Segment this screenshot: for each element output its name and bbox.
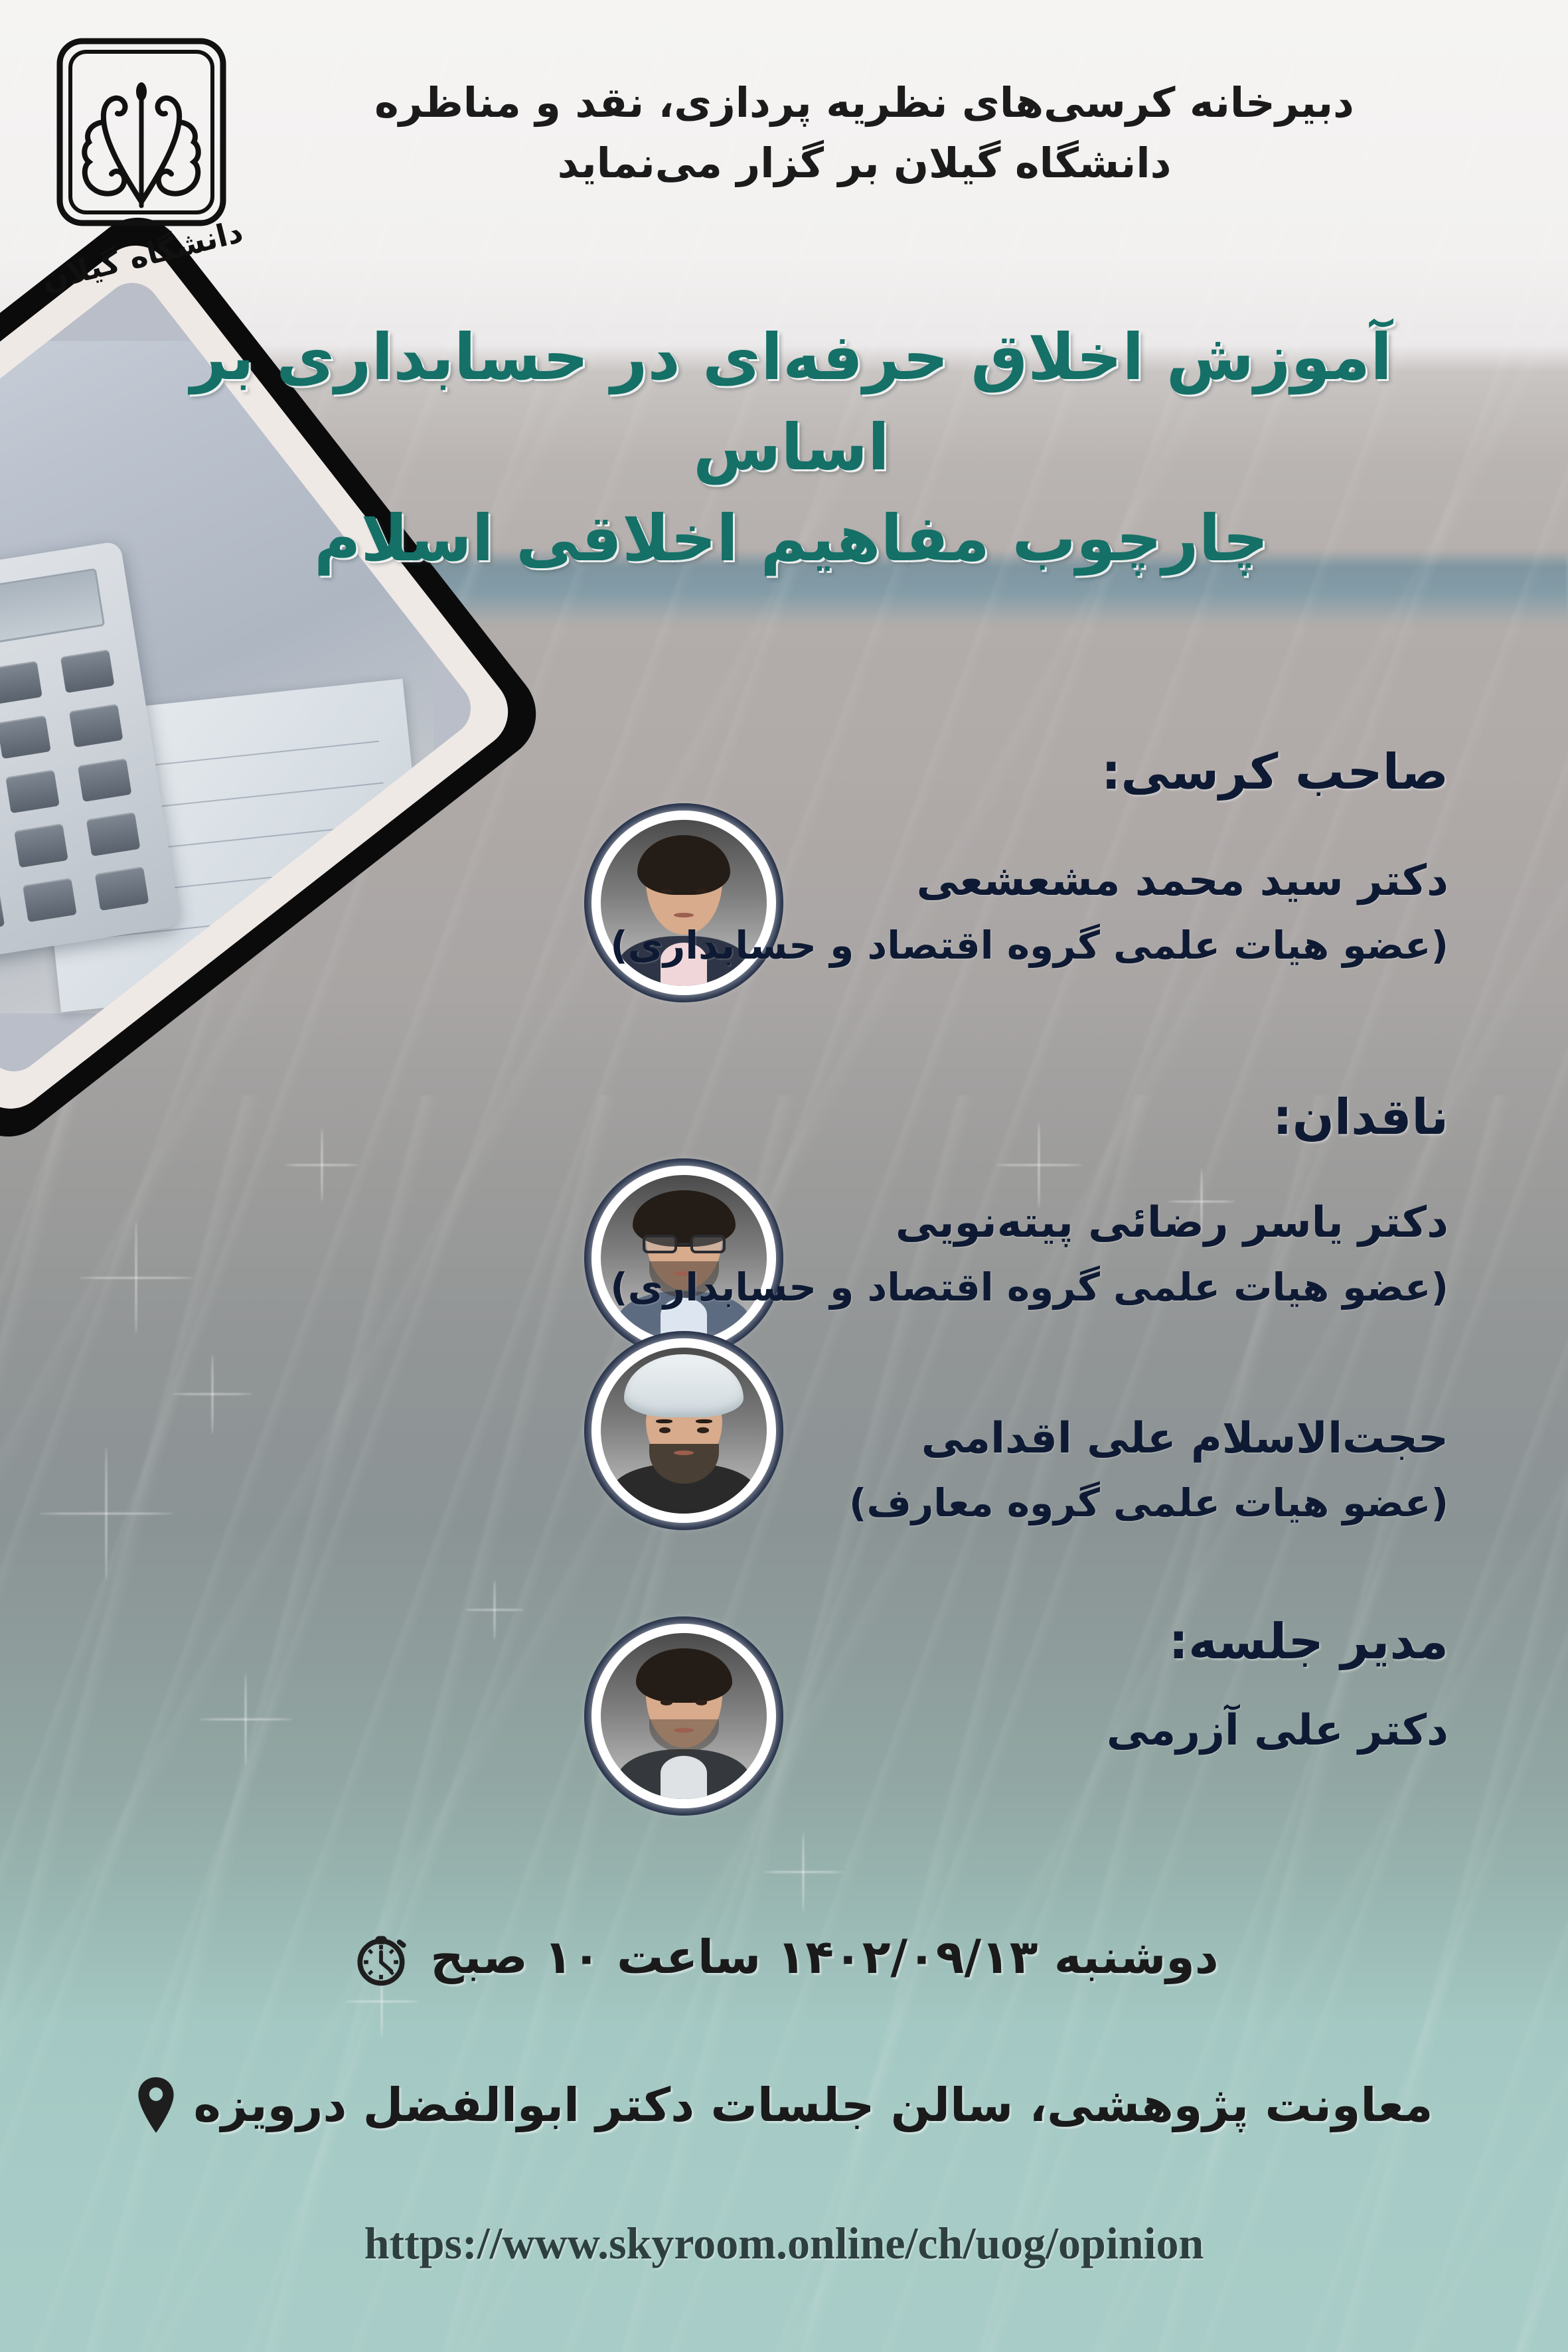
datetime-row: دوشنبه ۱۴۰۲/۰۹/۱۳ ساعت ۱۰ صبح — [0, 1925, 1568, 1989]
map-pin-icon — [135, 2075, 177, 2136]
poster-footer: دوشنبه ۱۴۰۲/۰۹/۱۳ ساعت ۱۰ صبح معاونت پژو… — [0, 0, 1568, 2352]
event-location: معاونت پژوهشی، سالن جلسات دکتر ابوالفضل … — [194, 2078, 1433, 2132]
location-row: معاونت پژوهشی، سالن جلسات دکتر ابوالفضل … — [0, 2075, 1568, 2136]
meeting-url[interactable]: https://www.skyroom.online/ch/uog/opinio… — [364, 2218, 1204, 2268]
event-datetime: دوشنبه ۱۴۰۲/۰۹/۱۳ ساعت ۱۰ صبح — [430, 1930, 1218, 1984]
stopwatch-icon — [349, 1925, 413, 1989]
meeting-url-row: https://www.skyroom.online/ch/uog/opinio… — [0, 2217, 1568, 2270]
event-poster: دانشگاه گیلان دبیرخانه کرسی‌های نظریه پر… — [0, 0, 1568, 2352]
